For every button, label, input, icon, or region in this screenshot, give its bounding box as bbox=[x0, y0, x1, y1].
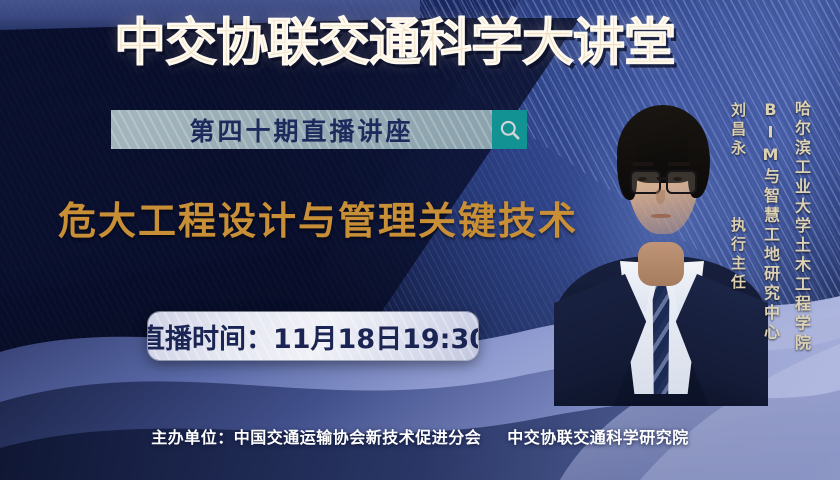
footer-organizer-1: 中国交通运输协会新技术促进分会 bbox=[234, 428, 482, 447]
portrait-glasses-right bbox=[666, 170, 697, 194]
portrait-mouth bbox=[651, 214, 671, 218]
episode-bar-background: 第四十期直播讲座 bbox=[111, 110, 492, 149]
speaker-institution: 哈尔滨工业大学土木工程学院 bbox=[789, 100, 813, 354]
live-time-text: 直播时间：11月18日19:30 bbox=[148, 317, 478, 356]
portrait-eyebrow-right bbox=[668, 162, 690, 166]
live-time-badge: 直播时间：11月18日19:30 bbox=[148, 312, 478, 360]
page-title: 中交协联交通科学大讲堂 bbox=[114, 18, 675, 69]
episode-bar: 第四十期直播讲座 bbox=[111, 110, 527, 149]
speaker-name: 刘昌永 bbox=[729, 102, 747, 159]
speaker-title: 执行主任 bbox=[729, 217, 747, 293]
speaker-portrait bbox=[572, 78, 748, 390]
episode-label: 第四十期直播讲座 bbox=[189, 112, 413, 148]
search-icon bbox=[498, 118, 522, 142]
footer-prefix: 主办单位： bbox=[151, 428, 234, 447]
lecture-poster: 中交协联交通科学大讲堂 第四十期直播讲座 危大工程设计与管理关键技术 直播时间：… bbox=[0, 0, 840, 480]
portrait-eyebrow-left bbox=[632, 162, 654, 166]
portrait-glasses-bridge bbox=[657, 177, 666, 180]
portrait-eye-left bbox=[638, 177, 647, 181]
portrait-nose bbox=[656, 190, 665, 204]
footer-organizer-2: 中交协联交通科学研究院 bbox=[507, 428, 689, 447]
speaker-identity: 刘昌永 执行主任 bbox=[728, 102, 749, 293]
footer-organizers: 主办单位：中国交通运输协会新技术促进分会中交协联交通科学研究院 bbox=[0, 424, 840, 448]
search-button[interactable] bbox=[492, 110, 527, 149]
portrait-neck bbox=[638, 242, 684, 286]
speaker-center: BIM与智慧工地研究中心 bbox=[758, 100, 782, 343]
portrait-eye-right bbox=[673, 177, 682, 181]
lecture-title: 危大工程设计与管理关键技术 bbox=[58, 190, 578, 245]
